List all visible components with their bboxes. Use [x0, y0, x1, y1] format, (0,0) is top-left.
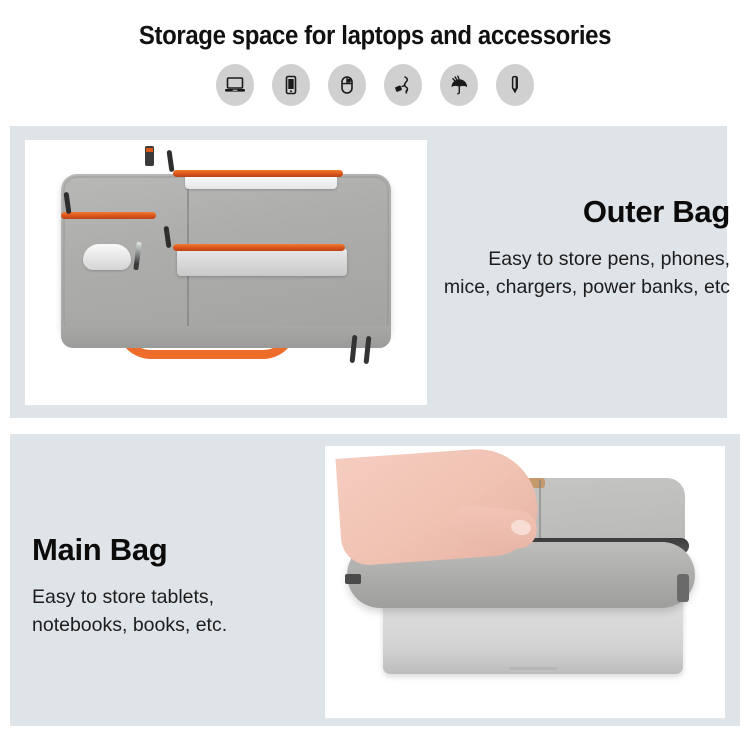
header: Storage space for laptops and accessorie… — [0, 0, 750, 125]
main-bag-heading: Main Bag — [32, 534, 312, 567]
zipper-top — [173, 170, 343, 177]
main-bag-text: Main Bag Easy to store tablets, notebook… — [32, 534, 312, 639]
hand-inserting-laptop-illustration — [325, 446, 725, 718]
stored-tablet — [177, 248, 347, 276]
sleeve-flap-seam — [539, 480, 541, 538]
umbrella-icon — [440, 64, 478, 106]
zipper-bottom — [173, 244, 345, 251]
outer-bag-photo — [25, 140, 427, 405]
zipper-pull-right — [677, 574, 689, 602]
brand-tag — [145, 146, 154, 166]
laptop-icon — [216, 64, 254, 106]
mouse-icon — [328, 64, 366, 106]
main-bag-description: Easy to store tablets, notebooks, books,… — [32, 583, 312, 640]
outer-bag-panel: Outer Bag Easy to store pens, phones, mi… — [10, 126, 727, 418]
pen-icon — [496, 64, 534, 106]
zipper-pull-left — [345, 574, 361, 584]
flat-sleeve-illustration — [25, 140, 427, 405]
page-title: Storage space for laptops and accessorie… — [23, 22, 728, 51]
feature-icon-row — [0, 64, 750, 106]
main-bag-photo — [325, 446, 725, 718]
outer-bag-heading: Outer Bag — [440, 196, 730, 229]
zipper-pull-top — [166, 150, 174, 172]
charger-icon — [384, 64, 422, 106]
phone-icon — [272, 64, 310, 106]
stored-mouse — [83, 244, 131, 270]
zipper-left — [61, 212, 156, 219]
main-bag-panel: Main Bag Easy to store tablets, notebook… — [10, 434, 740, 726]
hand — [335, 446, 540, 567]
outer-bag-text: Outer Bag Easy to store pens, phones, mi… — [440, 196, 730, 301]
outer-bag-description: Easy to store pens, phones, mice, charge… — [440, 245, 730, 302]
